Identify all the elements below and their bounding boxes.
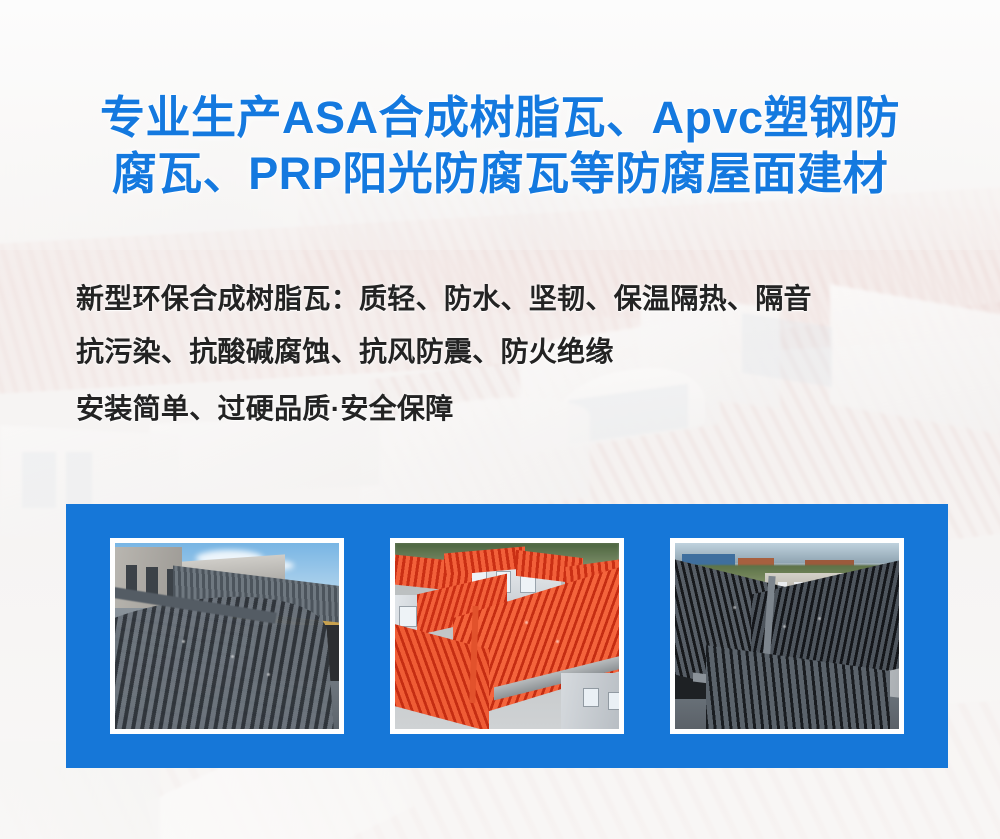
page-title: 专业生产ASA合成树脂瓦、Apvc塑钢防 腐瓦、PRP阳光防腐瓦等防腐屋面建材: [0, 90, 1000, 202]
feature-line-3: 安装简单、过硬品质·安全保障: [76, 382, 976, 435]
page-title-line-2: 腐瓦、PRP阳光防腐瓦等防腐屋面建材: [0, 146, 1000, 202]
tile-highlight-1: [525, 621, 528, 624]
page-title-line-1: 专业生产ASA合成树脂瓦、Apvc塑钢防: [0, 90, 1000, 146]
feature-list: 新型环保合成树脂瓦：质轻、防水、坚韧、保温隔热、隔音 抗污染、抗酸碱腐蚀、抗风防…: [76, 272, 976, 435]
red-resin-tile-roof-photo[interactable]: [390, 538, 624, 734]
black-roof-image-content: [675, 543, 899, 729]
black-resin-tile-roof-photo[interactable]: [670, 538, 904, 734]
promo-banner-page: 专业生产ASA合成树脂瓦、Apvc塑钢防 腐瓦、PRP阳光防腐瓦等防腐屋面建材 …: [0, 0, 1000, 839]
feature-line-2: 抗污染、抗酸碱腐蚀、抗风防震、防火绝缘: [76, 325, 976, 378]
tile-highlight-1: [182, 640, 185, 643]
facade-window-2: [608, 692, 619, 711]
feature-line-1: 新型环保合成树脂瓦：质轻、防水、坚韧、保温隔热、隔音: [76, 272, 976, 325]
facade-window-1: [583, 688, 599, 707]
grey-resin-tile-roof-photo[interactable]: [110, 538, 344, 734]
tile-highlight-2: [783, 625, 786, 628]
left-wall-window-1: [399, 606, 417, 626]
product-photo-gallery: [66, 504, 948, 768]
red-roof-image-content: [395, 543, 619, 729]
grey-roof-image-content: [115, 543, 339, 729]
